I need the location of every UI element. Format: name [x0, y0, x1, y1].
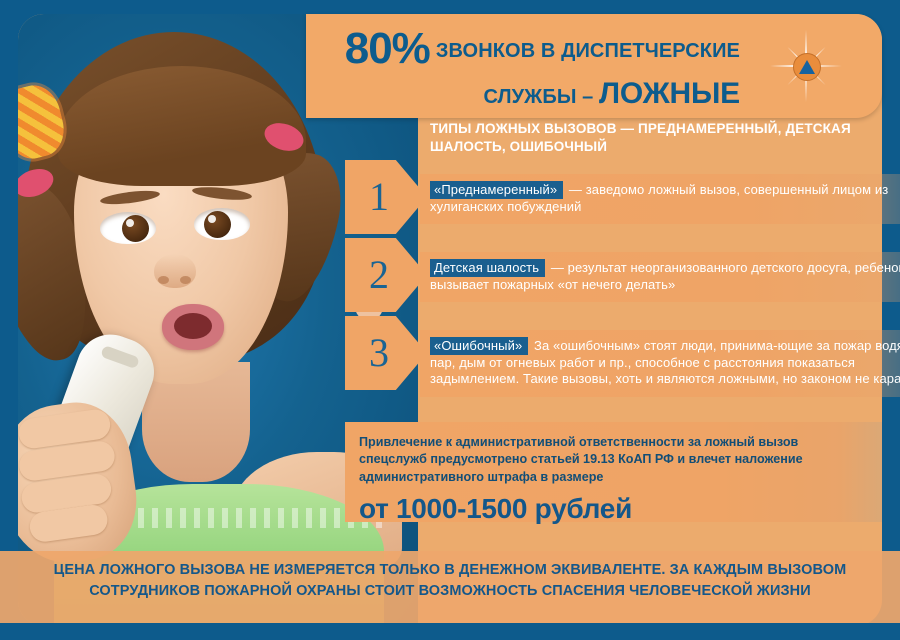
- item-3-highlight: «Ошибочный»: [430, 337, 528, 355]
- item-1-paragraph: «Преднамеренный» — заведомо ложный вызов…: [430, 181, 900, 215]
- nose: [154, 254, 196, 288]
- phone-speaker: [100, 345, 140, 369]
- item-1-body: «Преднамеренный» — заведомо ложный вызов…: [420, 174, 900, 224]
- number-badge-1-label: 1: [369, 173, 403, 222]
- eye-glint-right: [208, 215, 216, 223]
- percent-value: 80%: [345, 24, 430, 73]
- infographic-poster: 80% ЗВОНКОВ В ДИСПЕТЧЕРСКИЕ СЛУЖБЫ – ЛОЖ…: [0, 0, 900, 640]
- mouth: [162, 304, 224, 350]
- legal-penalty-block: Привлечение к административной ответстве…: [345, 422, 882, 522]
- number-badge-3-label: 3: [369, 329, 403, 378]
- header-line-1-rest: ЗВОНКОВ В ДИСПЕТЧЕРСКИЕ: [436, 40, 740, 62]
- eye-right: [194, 208, 250, 240]
- header-text-block: 80% ЗВОНКОВ В ДИСПЕТЧЕРСКИЕ СЛУЖБЫ – ЛОЖ…: [320, 26, 740, 109]
- item-2-paragraph: Детская шалость — результат неорганизова…: [430, 259, 900, 293]
- legal-text: Привлечение к административной ответстве…: [359, 434, 868, 486]
- eye-left: [100, 212, 156, 244]
- iris-left: [122, 215, 149, 242]
- emercom-star-emblem-icon: [770, 30, 842, 102]
- footer-text: ЦЕНА ЛОЖНОГО ВЫЗОВА НЕ ИЗМЕРЯЕТСЯ ТОЛЬКО…: [0, 551, 900, 602]
- footer-banner: ЦЕНА ЛОЖНОГО ВЫЗОВА НЕ ИЗМЕРЯЕТСЯ ТОЛЬКО…: [0, 551, 900, 623]
- eye-glint-left: [126, 219, 134, 227]
- item-1-highlight: «Преднамеренный»: [430, 181, 563, 199]
- header-line-2-small: СЛУЖБЫ –: [483, 86, 599, 108]
- footer-blue-strip: [0, 623, 900, 640]
- subtitle-text: ТИПЫ ЛОЖНЫХ ВЫЗОВОВ — ПРЕДНАМЕРЕННЫЙ, ДЕ…: [430, 120, 890, 156]
- penalty-amount: от 1000-1500 рублей: [359, 493, 868, 525]
- emblem-circle: [793, 53, 821, 81]
- header-line-2-big: ЛОЖНЫЕ: [599, 77, 740, 110]
- item-2-highlight: Детская шалость: [430, 259, 545, 277]
- number-badge-2-label: 2: [369, 251, 403, 300]
- iris-right: [204, 211, 231, 238]
- nostril-left: [158, 276, 169, 284]
- item-3-paragraph: «Ошибочный» За «ошибочным» стоят люди, п…: [430, 337, 900, 388]
- item-2-body: Детская шалость — результат неорганизова…: [420, 252, 900, 302]
- header-line-1: 80% ЗВОНКОВ В ДИСПЕТЧЕРСКИЕ: [320, 26, 740, 73]
- header-banner: 80% ЗВОНКОВ В ДИСПЕТЧЕРСКИЕ СЛУЖБЫ – ЛОЖ…: [306, 14, 882, 118]
- emblem-triangle-icon: [799, 60, 815, 74]
- header-line-2: СЛУЖБЫ – ЛОЖНЫЕ: [320, 78, 740, 110]
- item-3-body: «Ошибочный» За «ошибочным» стоят люди, п…: [420, 330, 900, 397]
- mouth-inner: [174, 313, 212, 339]
- nostril-right: [180, 276, 191, 284]
